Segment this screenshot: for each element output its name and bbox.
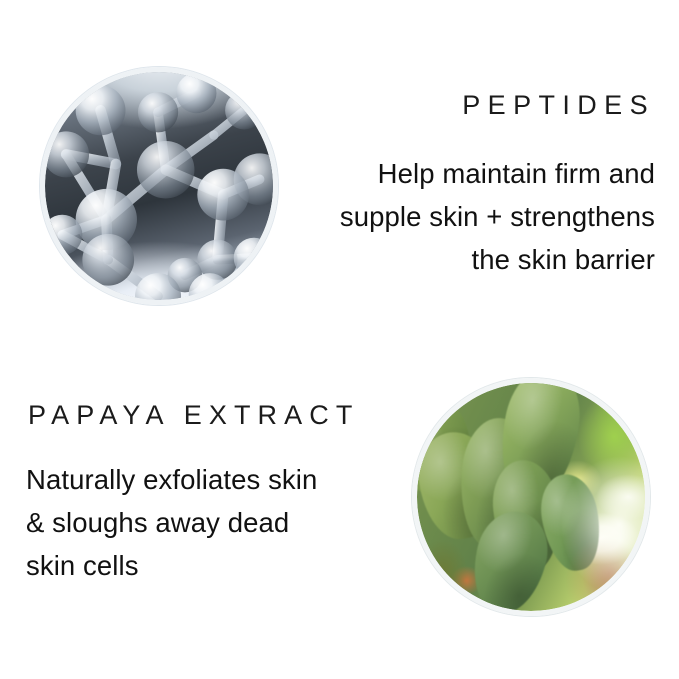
peptides-description-line-1: Help maintain firm and: [235, 152, 655, 195]
peptides-description: Help maintain firm and supple skin + str…: [235, 152, 655, 281]
papaya-image-circle: [412, 378, 650, 616]
infographic-page: PEPTIDES Help maintain firm and supple s…: [0, 0, 679, 679]
papaya-description-line-3: skin cells: [26, 544, 426, 587]
peptides-description-line-2: supple skin + strengthens: [235, 195, 655, 238]
peptides-heading: PEPTIDES: [462, 92, 655, 119]
papaya-description-line-1: Naturally exfoliates skin: [26, 458, 426, 501]
papaya-image-inner: [417, 383, 645, 611]
papaya-extract-description: Naturally exfoliates skin & sloughs away…: [26, 458, 426, 587]
papaya-description-line-2: & sloughs away dead: [26, 501, 426, 544]
papaya-background-photo: [417, 383, 645, 611]
papaya-extract-heading: PAPAYA EXTRACT: [28, 402, 359, 429]
peptides-description-line-3: the skin barrier: [235, 238, 655, 281]
papaya-bokeh-overlay: [417, 383, 645, 611]
